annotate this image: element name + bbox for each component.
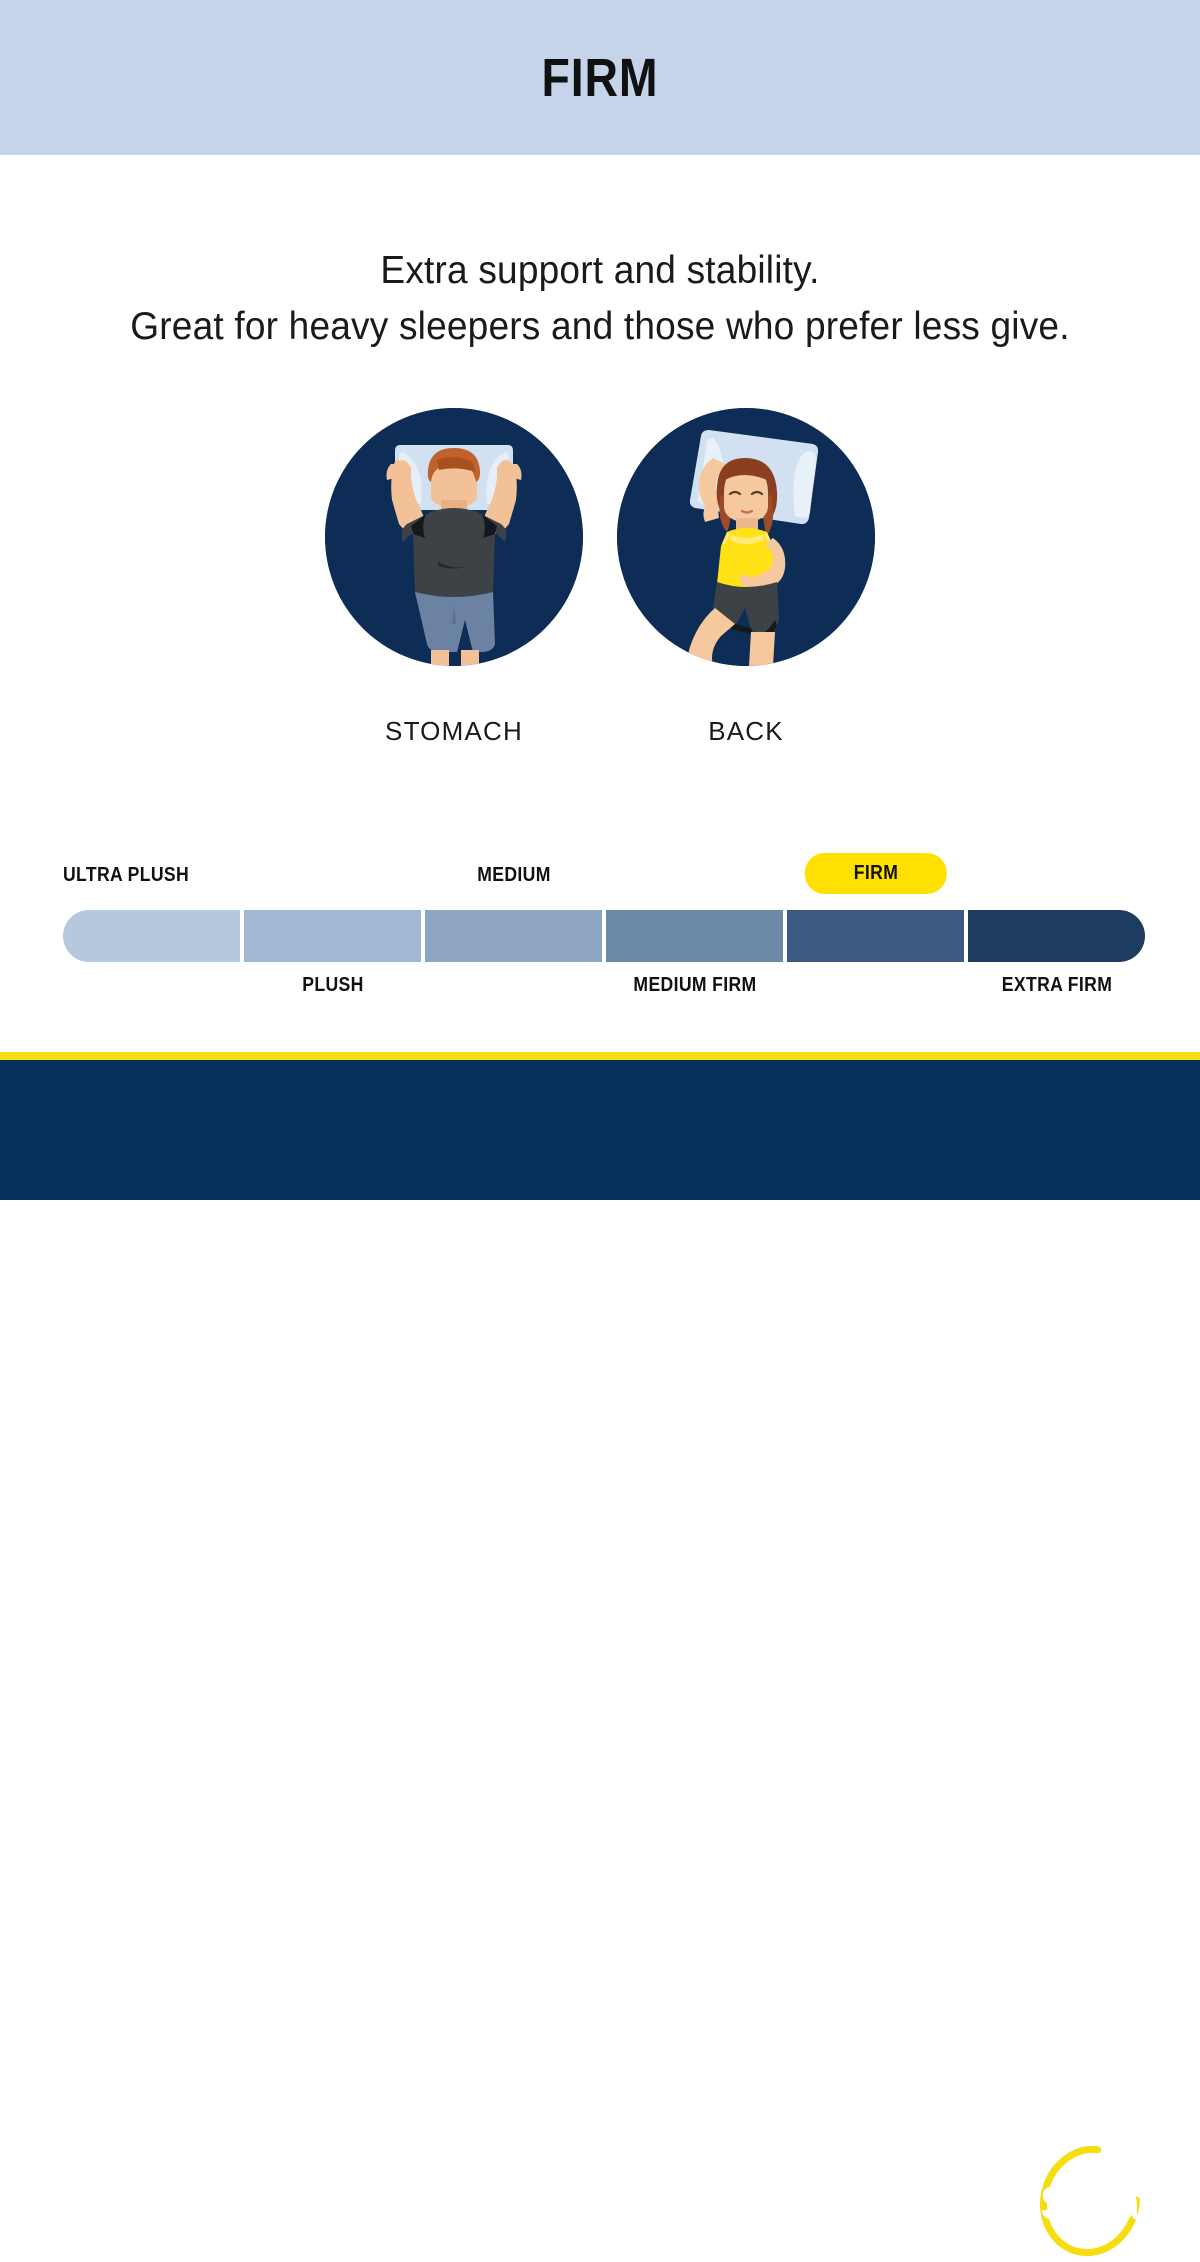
subtitle-line-1: Extra support and stability. [30,243,1170,299]
subtitle-line-2: Great for heavy sleepers and those who p… [30,299,1170,355]
firmness-scale-bar [63,910,1145,962]
firmness-label[interactable]: PLUSH [302,974,363,997]
firmness-segment[interactable] [425,910,602,962]
footer-accent-stripe [0,1052,1200,1060]
person-sleeping-on-stomach-icon [325,408,583,666]
firmness-segment[interactable] [244,910,421,962]
firmness-label[interactable]: MEDIUM FIRM [633,974,756,997]
subtitle-block: Extra support and stability. Great for h… [0,243,1200,355]
firmness-label[interactable]: EXTRA FIRM [1001,974,1111,997]
firmness-label[interactable]: ULTRA PLUSH [63,864,189,887]
sleep-position-label: STOMACH [385,716,523,747]
footer-band: Serta ® [0,1060,1200,1200]
firmness-label-text: FIRM [853,862,897,885]
firmness-segment[interactable] [606,910,783,962]
serta-logo-trademark: ® [1135,2223,1142,2233]
firmness-scale: ULTRA PLUSHMEDIUMFIRM PLUSHMEDIUM FIRMEX… [63,862,1145,1007]
serta-logo: Serta ® [1030,2145,1158,2257]
firmness-scale-labels-bottom: PLUSHMEDIUM FIRMEXTRA FIRM [63,972,1145,1006]
sleep-position-stomach: STOMACH [325,408,583,747]
sleep-position-back: BACK [617,408,875,747]
firmness-scale-labels-top: ULTRA PLUSHMEDIUMFIRM [63,862,1145,896]
firmness-label[interactable]: MEDIUM [477,864,550,887]
page-title: FIRM [542,47,659,109]
serta-logo-text: Serta [1041,2178,1141,2229]
firmness-segment[interactable] [787,910,964,962]
person-sleeping-on-back-icon [617,408,875,666]
header-band: FIRM [0,0,1200,155]
sleep-position-label: BACK [708,716,784,747]
firmness-segment[interactable] [968,910,1145,962]
firmness-segment[interactable] [63,910,240,962]
firmness-label-selected[interactable]: FIRM [804,853,946,894]
sleep-position-illustrations: STOMACH [0,408,1200,747]
